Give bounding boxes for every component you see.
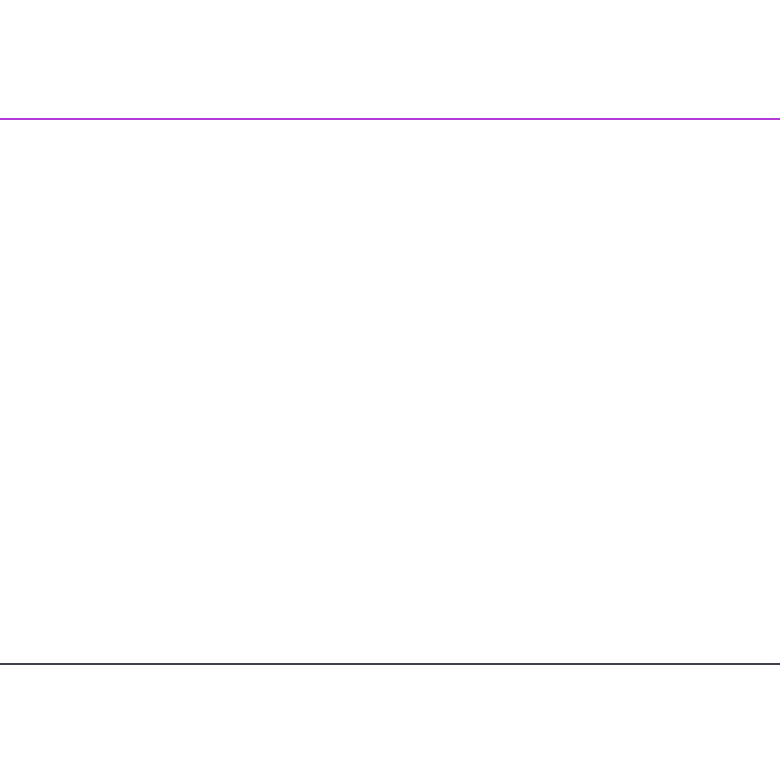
title-divider [0, 118, 780, 120]
x-axis-tick-labels [0, 673, 780, 703]
plot-area [0, 190, 780, 664]
x-axis-line [0, 663, 780, 665]
stacked-bar-series [0, 190, 780, 664]
chart-root [0, 0, 780, 780]
